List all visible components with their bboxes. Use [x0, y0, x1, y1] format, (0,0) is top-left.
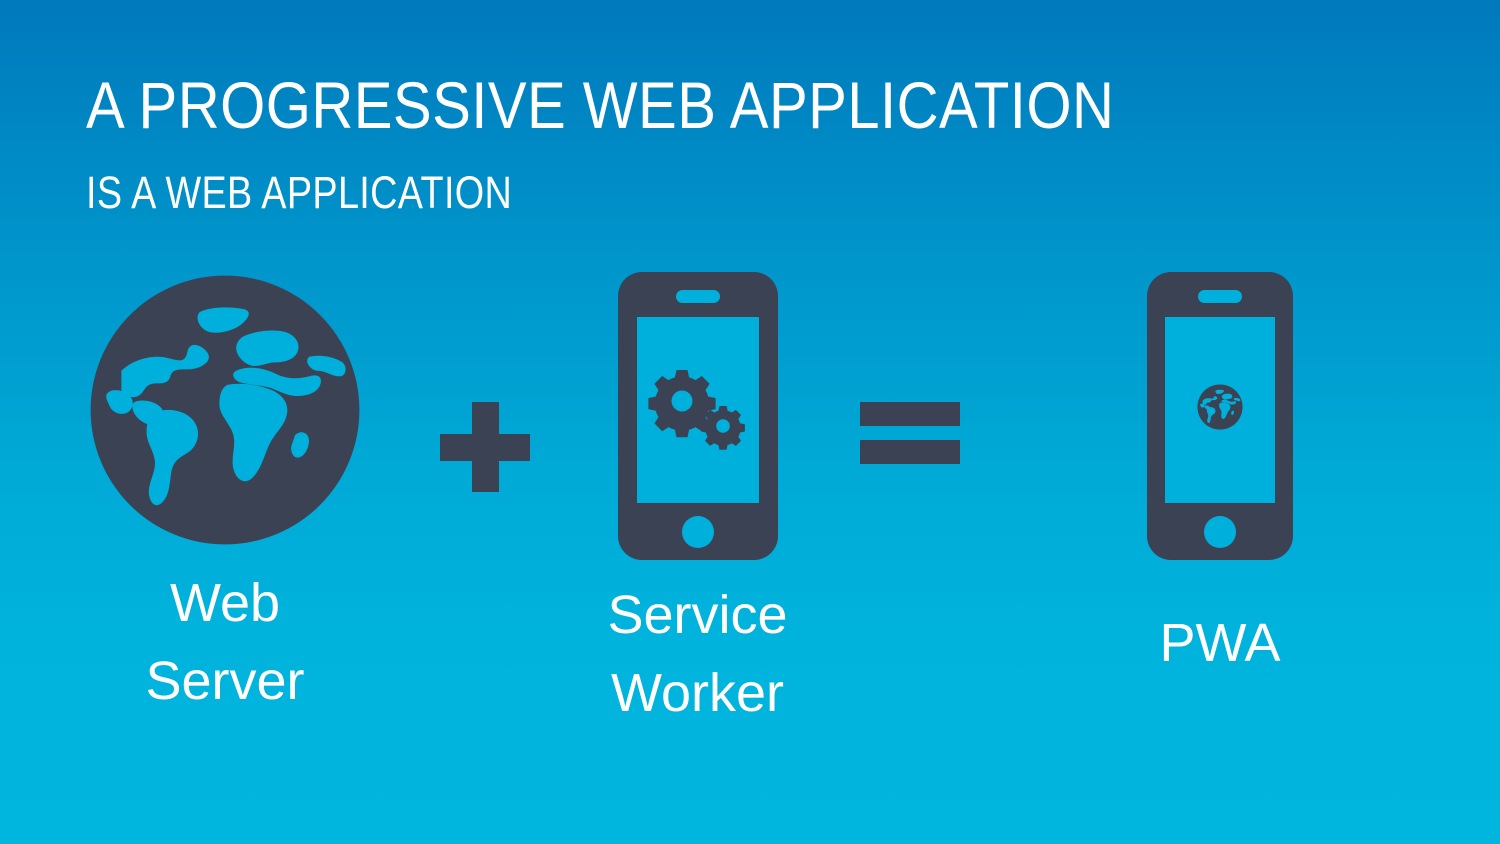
equation-term-label-web-server: Web Server: [60, 564, 390, 721]
phone-gears-icon-wrap: [565, 270, 830, 562]
globe-icon-small: [1197, 384, 1242, 429]
equation-row: Web Server +: [0, 270, 1500, 730]
phone-speaker-slot: [676, 290, 720, 303]
phone-home-button: [1204, 516, 1236, 548]
equation-term-label-service-worker: Service Worker: [565, 576, 830, 733]
phone-globe-icon: [1145, 270, 1295, 562]
page-subtitle: IS A WEB APPLICATION: [86, 170, 1094, 215]
equation-term-service-worker: Service Worker: [565, 270, 830, 733]
phone-gears-icon: [616, 270, 780, 562]
globe-icon: [85, 270, 365, 550]
phone-speaker-slot: [1198, 290, 1242, 303]
phone-globe-icon-wrap: [1085, 270, 1355, 562]
equation-operator-plus: +: [420, 400, 550, 494]
phone-home-button: [682, 516, 714, 548]
equation-term-label-pwa: PWA: [1085, 604, 1355, 682]
equation-operator-equals: =: [840, 400, 980, 466]
equation-term-pwa: PWA: [1085, 270, 1355, 682]
page-title: A PROGRESSIVE WEB APPLICATION: [86, 72, 1142, 138]
title-block: A PROGRESSIVE WEB APPLICATION IS A WEB A…: [86, 72, 1286, 215]
equals-icon: [858, 400, 962, 466]
slide-canvas: A PROGRESSIVE WEB APPLICATION IS A WEB A…: [0, 0, 1500, 844]
equation-term-web-server: Web Server: [60, 270, 390, 721]
plus-icon: [438, 400, 532, 494]
globe-icon-wrap: [60, 270, 390, 550]
